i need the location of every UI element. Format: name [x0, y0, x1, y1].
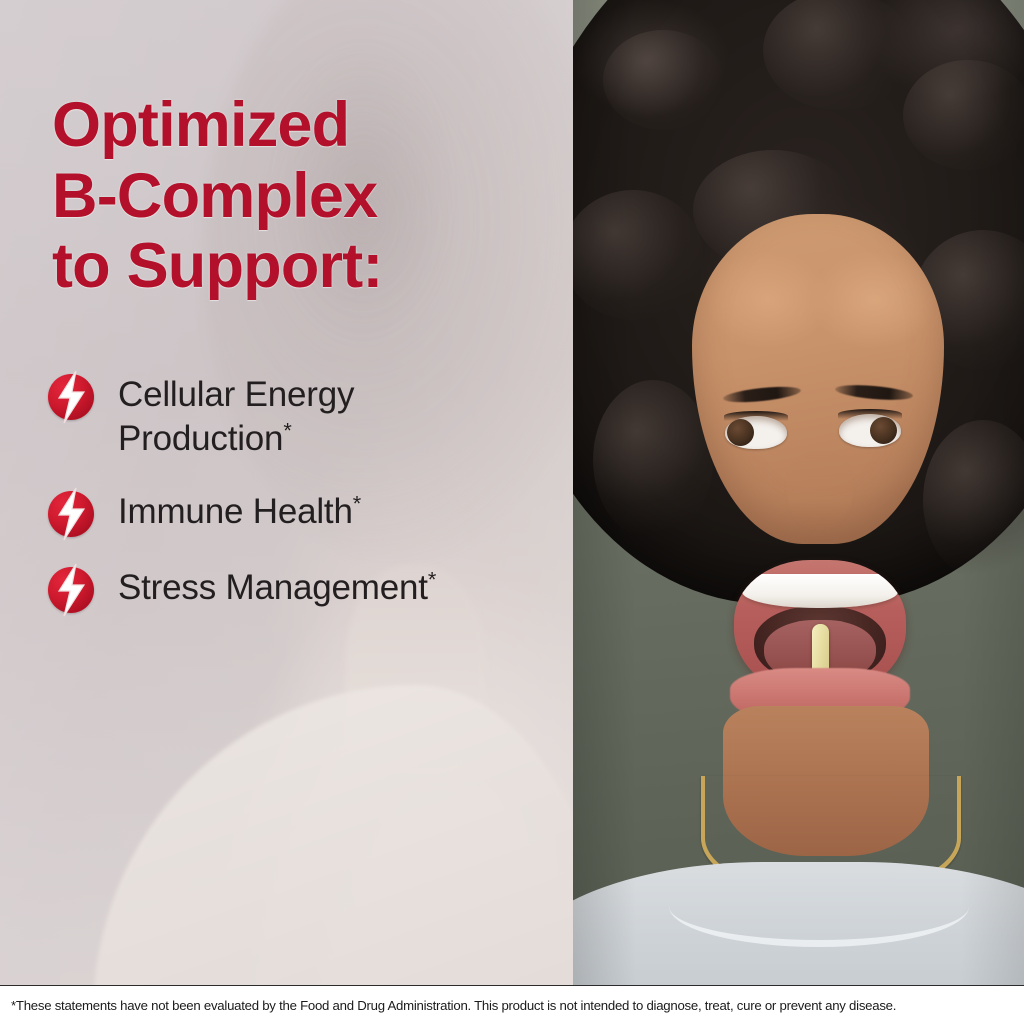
promo-canvas: Optimized B-Complex to Support: Cellular… [0, 0, 1024, 1024]
eye-right [839, 414, 901, 447]
bolt-glyph [51, 371, 91, 423]
lightning-bolt-icon [48, 491, 94, 537]
page-title: Optimized B-Complex to Support: [52, 90, 552, 302]
lightning-bolt-icon [48, 567, 94, 613]
benefit-label: Immune Health* [118, 489, 361, 534]
disclaimer-text: *These statements have not been evaluate… [0, 998, 896, 1013]
footer-disclaimer-bar: *These statements have not been evaluate… [0, 985, 1024, 1024]
benefit-asterisk: * [353, 491, 361, 516]
hair-curl [903, 60, 1024, 170]
benefit-label-text: Cellular Energy Production [118, 375, 354, 458]
benefit-asterisk: * [283, 417, 291, 442]
benefit-label-text: Stress Management [118, 568, 428, 607]
ghost-shoulder-shape [93, 685, 573, 985]
bolt-glyph [51, 564, 91, 616]
hair-curl [603, 30, 723, 130]
model-photo [573, 0, 1024, 985]
bolt-glyph [51, 488, 91, 540]
iris [870, 417, 897, 444]
hair-curl [593, 380, 713, 540]
list-item: Immune Health* [48, 489, 548, 537]
upper-teeth [742, 574, 898, 608]
list-item: Cellular Energy Production* [48, 372, 548, 461]
list-item: Stress Management* [48, 565, 548, 613]
benefit-label: Stress Management* [118, 565, 436, 610]
benefit-asterisk: * [428, 567, 436, 592]
iris [727, 419, 754, 446]
benefit-label-text: Immune Health [118, 492, 353, 531]
nose-shape [787, 452, 853, 530]
shirt-collar [669, 866, 969, 947]
benefit-label: Cellular Energy Production* [118, 372, 354, 461]
benefits-list: Cellular Energy Production* Immune Healt… [48, 372, 548, 613]
lightning-bolt-icon [48, 374, 94, 420]
eye-left [725, 416, 787, 449]
